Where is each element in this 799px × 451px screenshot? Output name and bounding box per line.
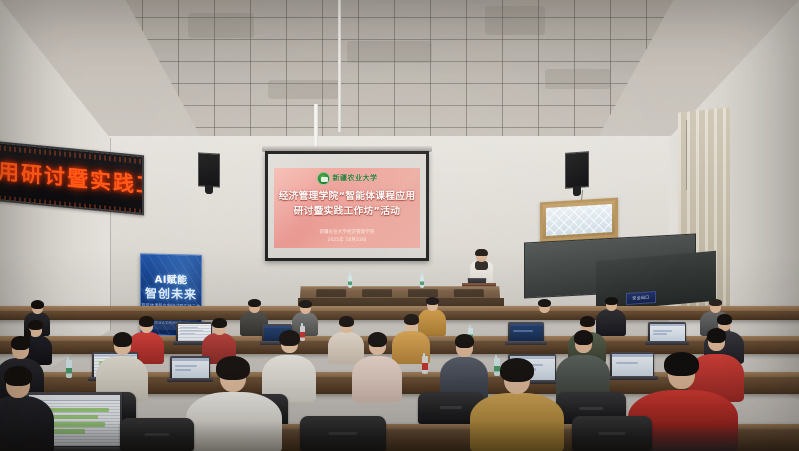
slide-title-line-1: 经济管理学院“智能体课程应用 bbox=[275, 190, 420, 205]
rollup-subhead: 智创未来 bbox=[141, 284, 201, 303]
water-bottle bbox=[420, 276, 424, 288]
slide-subtitle-date: 2025年 10月23日 bbox=[327, 237, 366, 244]
water-bottle bbox=[348, 276, 352, 288]
ceiling-hanger-rod bbox=[338, 0, 341, 132]
audience-person bbox=[352, 332, 402, 398]
projection-screen: 新疆农业大学 经济管理学院“智能体课程应用 研讨暨实践工作坊”活动 新疆农业大学… bbox=[265, 151, 429, 261]
audience-person bbox=[556, 330, 610, 398]
audience-person bbox=[96, 332, 148, 398]
water-bottle bbox=[422, 356, 428, 374]
window-glass bbox=[546, 204, 612, 236]
university-crest-icon bbox=[317, 172, 330, 185]
conference-room-photo: 用研讨暨实践工作坊” 新疆农业大学 经济管理学院“智能体课程应用 研讨暨实践工作… bbox=[0, 0, 799, 451]
slide-logo-text: 新疆农业大学 bbox=[333, 175, 378, 182]
water-bottle bbox=[66, 360, 72, 378]
foreground-person bbox=[0, 366, 54, 451]
presenter-hair bbox=[475, 249, 488, 256]
auditorium-seat[interactable] bbox=[572, 416, 652, 451]
wall-speaker-right bbox=[565, 151, 589, 189]
foreground-person bbox=[186, 358, 282, 451]
projector-mount-pole bbox=[314, 104, 318, 148]
audience-person bbox=[292, 300, 318, 334]
wall-speaker-left bbox=[198, 152, 220, 187]
presentation-slide: 新疆农业大学 经济管理学院“智能体课程应用 研讨暨实践工作坊”活动 新疆农业大学… bbox=[274, 168, 420, 248]
exit-sign: 安全出口 bbox=[626, 291, 656, 305]
screen-surface: 新疆农业大学 经济管理学院“智能体课程应用 研讨暨实践工作坊”活动 新疆农业大学… bbox=[268, 154, 426, 258]
curtain-cord[interactable] bbox=[686, 120, 687, 190]
audience-laptop[interactable] bbox=[508, 322, 544, 342]
slide-logo: 新疆农业大学 bbox=[317, 172, 378, 185]
slide-title-line-2: 研讨暨实践工作坊”活动 bbox=[290, 205, 405, 220]
auditorium-seat[interactable] bbox=[120, 418, 194, 451]
presenter-scarf bbox=[475, 261, 488, 270]
auditorium-seat[interactable] bbox=[300, 416, 386, 451]
exit-sign-text: 安全出口 bbox=[632, 294, 649, 301]
barred-window bbox=[540, 198, 618, 243]
slide-subtitle-org: 新疆农业大学经济管理学院 bbox=[319, 229, 374, 236]
foreground-person bbox=[470, 360, 564, 451]
audience-laptop[interactable] bbox=[648, 322, 686, 342]
